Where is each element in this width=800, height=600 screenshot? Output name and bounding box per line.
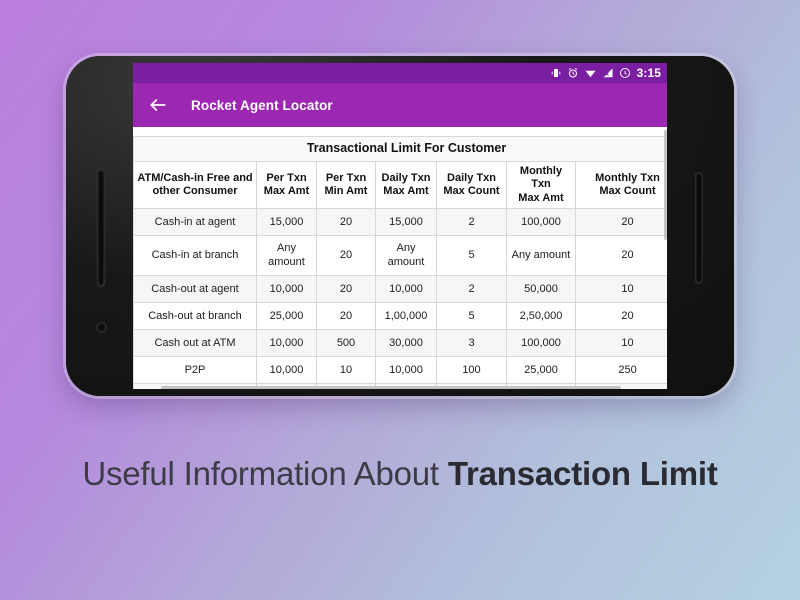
back-arrow-icon[interactable] (145, 92, 171, 118)
table-cell: 3 (437, 330, 507, 357)
table-cell: 1,00,000 (376, 303, 437, 330)
table-cell: 20 (576, 209, 668, 236)
wifi-icon (584, 67, 597, 79)
table-row: Cash-out at agent10,0002010,000250,00010 (134, 276, 668, 303)
column-header-line: Max Count (443, 185, 499, 197)
table-cell: 2 (437, 209, 507, 236)
table-cell: 100,000 (507, 209, 576, 236)
page-caption: Useful Information About Transaction Lim… (0, 455, 800, 493)
front-camera-icon (96, 322, 107, 333)
transaction-limit-table: Transactional Limit For CustomerATM/Cash… (133, 136, 667, 389)
column-header-line: Daily Txn (382, 172, 431, 184)
column-header: ATM/Cash-in Free andother Consumer (134, 162, 257, 209)
column-header-line: Daily Txn (447, 172, 496, 184)
table-cell: 100,000 (507, 330, 576, 357)
table-cell: 20 (317, 303, 376, 330)
table-cell: 25,000 (257, 303, 317, 330)
table-cell: 15,000 (376, 209, 437, 236)
column-header: Daily TxnMax Amt (376, 162, 437, 209)
vertical-scrollbar[interactable] (664, 130, 667, 240)
row-label: Cash-out at branch (134, 303, 257, 330)
app-bar: Rocket Agent Locator (133, 83, 667, 127)
clock-icon (619, 67, 631, 79)
table-cell: 30,000 (376, 330, 437, 357)
table-caption: Transactional Limit For Customer (134, 137, 668, 162)
speaker-slot-icon (695, 172, 703, 284)
table-cell: 10 (317, 357, 376, 384)
alarm-icon (567, 67, 579, 79)
column-header-line: ATM/Cash-in Free and (137, 172, 252, 184)
table-cell: 15,000 (257, 209, 317, 236)
table-cell: 10 (576, 276, 668, 303)
column-header: Daily TxnMax Count (437, 162, 507, 209)
column-header-line: Per Txn (266, 172, 306, 184)
table-cell: 10,000 (257, 276, 317, 303)
table-cell: 50,000 (507, 276, 576, 303)
table-cell: 5 (437, 236, 507, 276)
row-label: Cash-in at branch (134, 236, 257, 276)
column-header-line: other Consumer (153, 185, 238, 197)
table-header-row: ATM/Cash-in Free andother ConsumerPer Tx… (134, 162, 668, 209)
table-top-spacer (133, 127, 667, 136)
row-label: Cash out at ATM (134, 330, 257, 357)
row-label: P2P (134, 357, 257, 384)
table-cell: 20 (576, 236, 668, 276)
status-bar: 3:15 (133, 63, 667, 83)
table-cell: 25,000 (507, 357, 576, 384)
horizontal-scrollbar[interactable] (161, 386, 621, 389)
table-cell: 10 (576, 330, 668, 357)
table-cell: 5 (437, 303, 507, 330)
status-time: 3:15 (637, 66, 661, 80)
table-cell: 20 (317, 209, 376, 236)
table-cell: Any amount (507, 236, 576, 276)
table-row: Cash-out at branch25,000201,00,00052,50,… (134, 303, 668, 330)
table-row: P2P10,0001010,00010025,000250 (134, 357, 668, 384)
table-caption-row: Transactional Limit For Customer (134, 137, 668, 162)
row-label: Cash-in at agent (134, 209, 257, 236)
table-cell: 20 (576, 303, 668, 330)
table-cell: 20 (317, 236, 376, 276)
column-header-line: Max Amt (264, 185, 309, 197)
row-label: Cash-out at agent (134, 276, 257, 303)
table-cell: 10,000 (257, 357, 317, 384)
table-cell: 2 (437, 276, 507, 303)
table-cell: 20 (317, 276, 376, 303)
table-cell: 250 (576, 357, 668, 384)
table-row: Cash out at ATM10,00050030,0003100,00010 (134, 330, 668, 357)
phone-device: 3:15 Rocket Agent Locator Transactional … (66, 56, 734, 396)
column-header: Per TxnMax Amt (257, 162, 317, 209)
column-header: Per TxnMin Amt (317, 162, 376, 209)
vibrate-icon (550, 67, 562, 79)
table-cell: Any amount (257, 236, 317, 276)
table-cell: 100 (437, 357, 507, 384)
signal-icon (602, 67, 614, 79)
page-title: Rocket Agent Locator (191, 98, 333, 113)
table-scroll-container[interactable]: Transactional Limit For CustomerATM/Cash… (133, 127, 667, 389)
table-row: Cash-in at branchAny amount20Any amount5… (134, 236, 668, 276)
caption-bold-text: Transaction Limit (448, 455, 718, 492)
table-cell: 10,000 (376, 357, 437, 384)
column-header-line: Max Amt (383, 185, 428, 197)
table-cell: 10,000 (376, 276, 437, 303)
column-header: Monthly TxnMax Amt (507, 162, 576, 209)
phone-screen: 3:15 Rocket Agent Locator Transactional … (133, 63, 667, 389)
table-cell: Any amount (376, 236, 437, 276)
column-header-line: Per Txn (326, 172, 366, 184)
column-header-line: Max Count (599, 185, 655, 197)
column-header-line: Min Amt (325, 185, 368, 197)
column-header-line: Monthly Txn (520, 165, 562, 190)
column-header-line: Max Amt (518, 192, 563, 204)
column-header-line: Monthly Txn (595, 172, 660, 184)
table-row: Cash-in at agent15,0002015,0002100,00020 (134, 209, 668, 236)
table-cell: 10,000 (257, 330, 317, 357)
caption-normal-text: Useful Information About (82, 455, 448, 492)
table-cell: 2,50,000 (507, 303, 576, 330)
column-header: Monthly TxnMax Count (576, 162, 668, 209)
table-cell: 500 (317, 330, 376, 357)
speaker-slot-icon (97, 169, 105, 287)
